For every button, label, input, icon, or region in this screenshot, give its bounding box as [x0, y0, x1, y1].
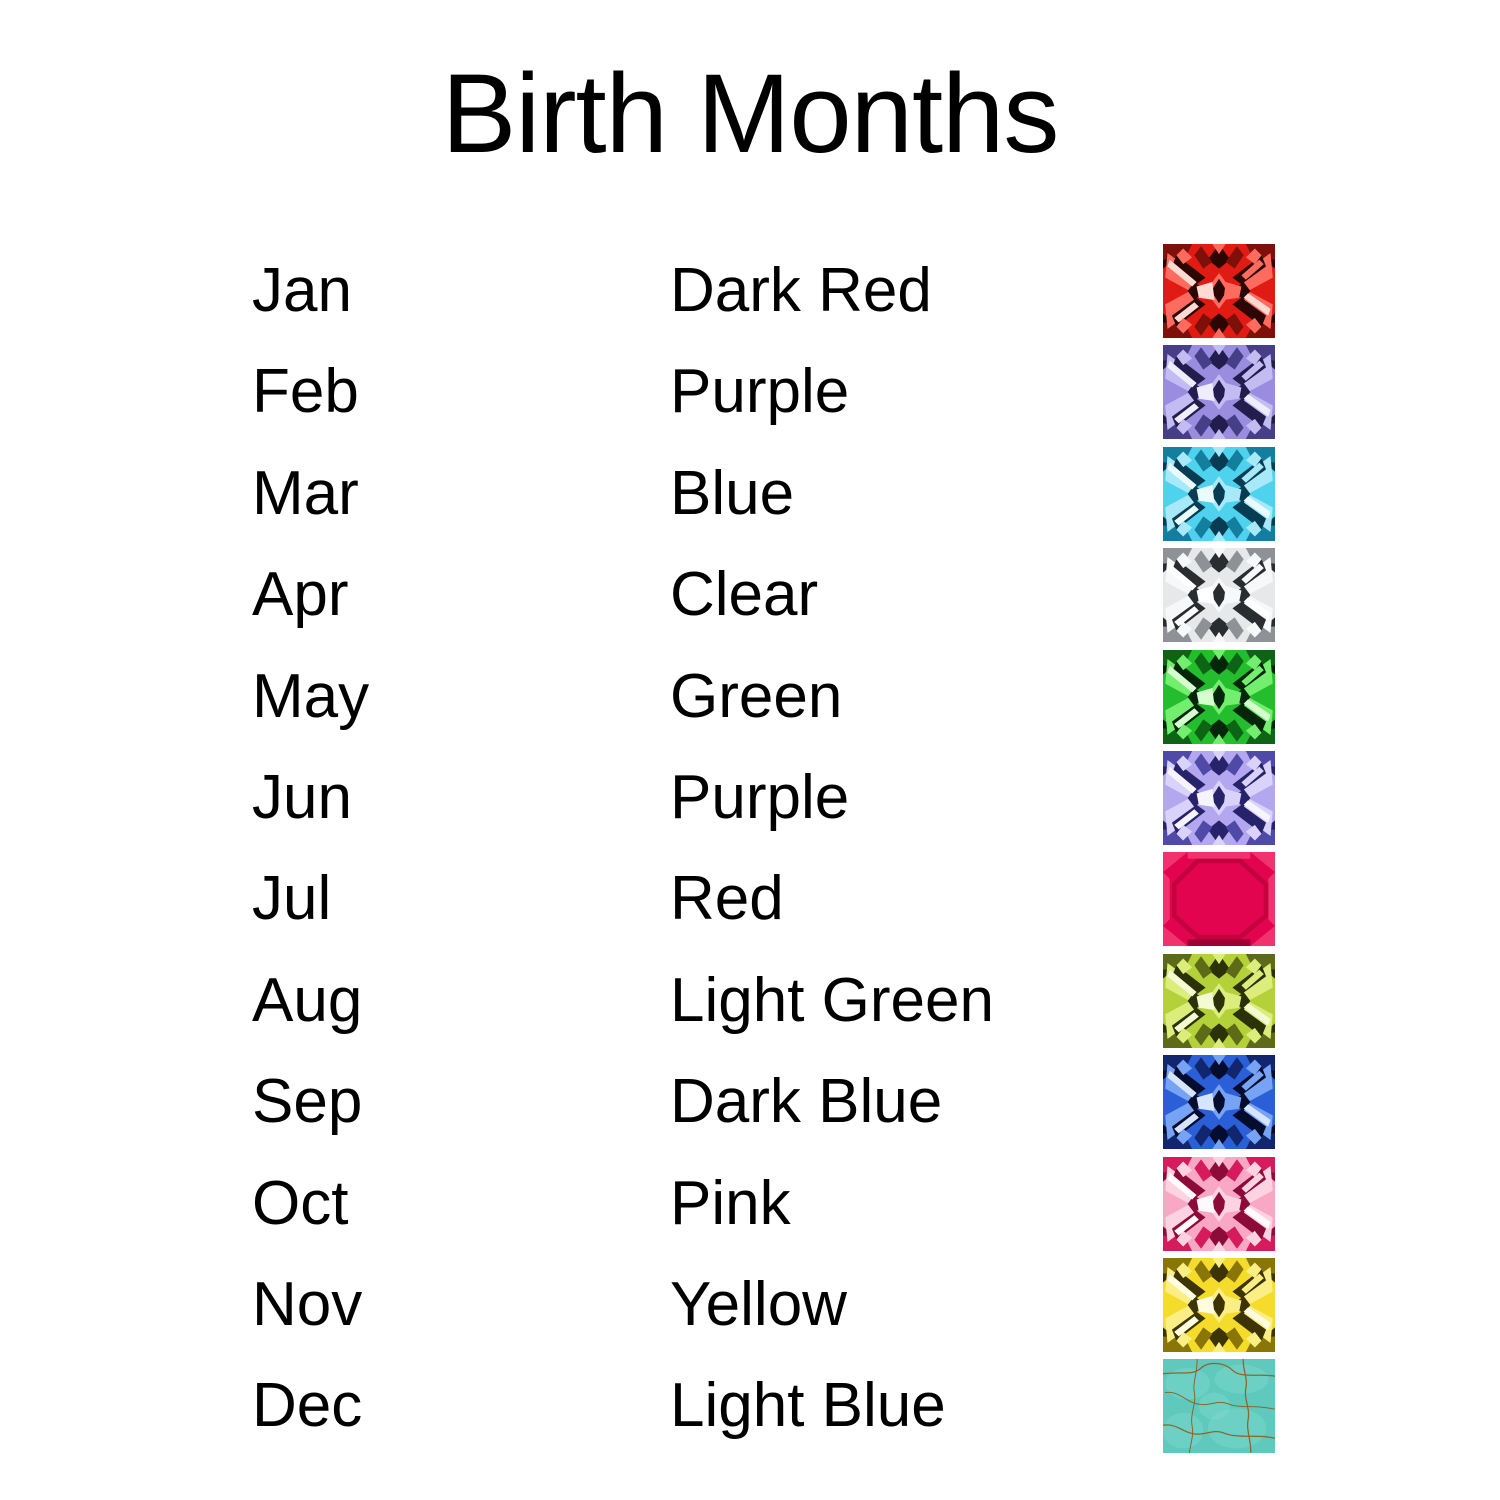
- tourmaline-gem: [1163, 1157, 1275, 1251]
- color-label: Clear: [670, 548, 818, 642]
- color-label: Dark Blue: [670, 1055, 942, 1149]
- color-label: Dark Red: [670, 244, 932, 338]
- table-row: AugLight Green: [0, 954, 1500, 1055]
- sapphire-gem: [1163, 1055, 1275, 1149]
- amethyst-gem: [1163, 345, 1275, 439]
- month-label: Apr: [252, 548, 348, 642]
- month-label: Jan: [252, 244, 352, 338]
- month-label: May: [252, 650, 369, 744]
- table-row: AprClear: [0, 548, 1500, 649]
- color-label: Purple: [670, 751, 849, 845]
- turquoise-gem: [1163, 1359, 1275, 1453]
- table-row: DecLight Blue: [0, 1359, 1500, 1460]
- month-label: Mar: [252, 447, 359, 541]
- color-label: Light Green: [670, 954, 994, 1048]
- color-label: Red: [670, 852, 784, 946]
- month-label: Feb: [252, 345, 359, 439]
- emerald-gem: [1163, 650, 1275, 744]
- garnet-gem: [1163, 244, 1275, 338]
- month-label: Sep: [252, 1055, 362, 1149]
- table-row: JulRed: [0, 852, 1500, 953]
- table-row: FebPurple: [0, 345, 1500, 446]
- month-label: Dec: [252, 1359, 362, 1453]
- table-row: MarBlue: [0, 447, 1500, 548]
- color-label: Purple: [670, 345, 849, 439]
- peridot-gem: [1163, 954, 1275, 1048]
- color-label: Blue: [670, 447, 794, 541]
- ruby-gem: [1163, 852, 1275, 946]
- month-label: Jun: [252, 751, 352, 845]
- month-label: Nov: [252, 1258, 362, 1352]
- diamond-gem: [1163, 548, 1275, 642]
- color-label: Light Blue: [670, 1359, 946, 1453]
- month-label: Aug: [252, 954, 362, 1048]
- table-row: NovYellow: [0, 1258, 1500, 1359]
- birth-months-page: Birth Months JanDark RedFebPurpleMarBlue…: [0, 0, 1500, 1500]
- citrine-gem: [1163, 1258, 1275, 1352]
- month-label: Oct: [252, 1157, 348, 1251]
- table-row: JanDark Red: [0, 244, 1500, 345]
- month-label: Jul: [252, 852, 331, 946]
- color-label: Green: [670, 650, 842, 744]
- aquamarine-gem: [1163, 447, 1275, 541]
- color-label: Pink: [670, 1157, 791, 1251]
- page-title: Birth Months: [0, 58, 1500, 170]
- table-row: JunPurple: [0, 751, 1500, 852]
- table-row: MayGreen: [0, 650, 1500, 751]
- color-label: Yellow: [670, 1258, 847, 1352]
- alexandrite-gem: [1163, 751, 1275, 845]
- table-row: OctPink: [0, 1157, 1500, 1258]
- table-row: SepDark Blue: [0, 1055, 1500, 1156]
- birth-months-table: JanDark RedFebPurpleMarBlueAprClearMayGr…: [0, 244, 1500, 1461]
